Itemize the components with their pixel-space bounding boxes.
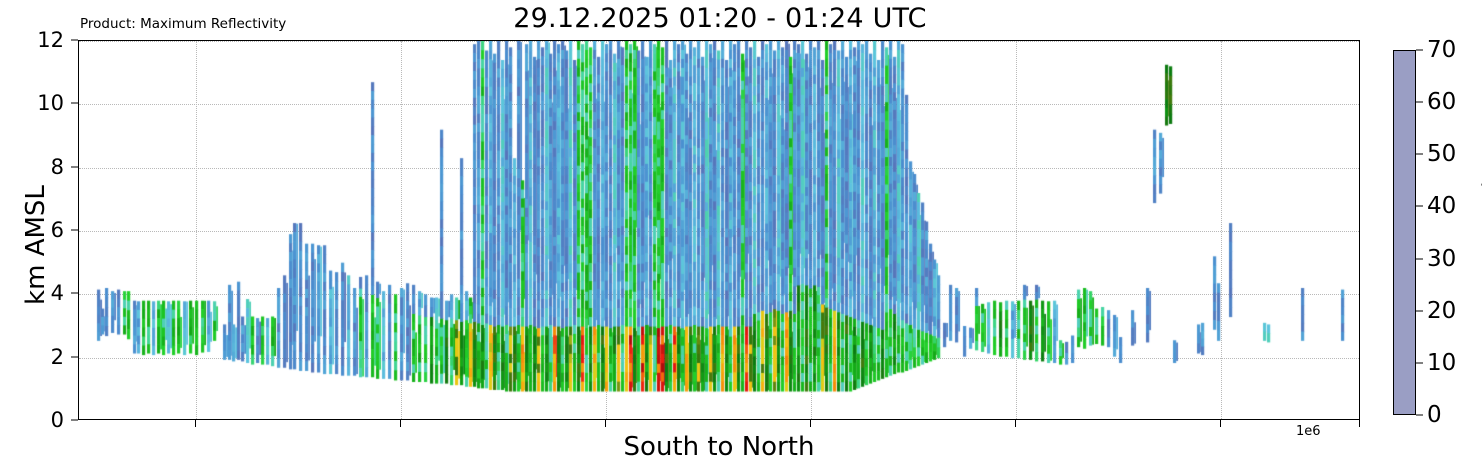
reflectivity-heatmap: [79, 41, 1360, 420]
colorbar-tick-label: 20: [1427, 298, 1456, 324]
x-axis-tick-mark: [195, 420, 196, 427]
colorbar-tick-label: 10: [1427, 350, 1456, 376]
radar-cross-section-figure: 29.12.2025 01:20 - 01:24 UTC Product: Ma…: [0, 0, 1482, 470]
y-axis-tick-mark: [71, 420, 78, 421]
y-axis-tick-label: 6: [51, 218, 64, 242]
colorbar-tick-mark: [1416, 154, 1423, 155]
y-axis-tick-mark: [71, 356, 78, 357]
colorbar-gradient: [1393, 50, 1416, 415]
x-axis-tick-mark: [1015, 420, 1016, 427]
y-axis-tick-label: 10: [37, 91, 64, 115]
y-axis-tick-label: 12: [37, 28, 64, 52]
colorbar-tick-label: 40: [1427, 193, 1456, 219]
y-axis-tick-label: 0: [51, 408, 64, 432]
colorbar-tick-label: 70: [1427, 37, 1456, 63]
x-axis-offset-text: 1e6: [1296, 424, 1321, 439]
y-axis-tick-mark: [71, 166, 78, 167]
colorbar-tick-label: 0: [1427, 402, 1442, 428]
colorbar-tick-label: 50: [1427, 141, 1456, 167]
x-axis-tick-mark: [810, 420, 811, 427]
colorbar-tick-mark: [1416, 206, 1423, 207]
y-axis-tick-mark: [71, 230, 78, 231]
plot-area: [78, 40, 1360, 420]
colorbar: 010203040506070: [1393, 50, 1416, 415]
x-axis-tick-mark: [1220, 420, 1221, 427]
colorbar-tick-mark: [1416, 102, 1423, 103]
y-axis-tick-label: 4: [51, 281, 64, 305]
y-axis-tick-label: 8: [51, 155, 64, 179]
colorbar-tick-mark: [1416, 310, 1423, 311]
product-label: Product: Maximum Reflectivity: [80, 16, 286, 32]
colorbar-tick-label: 30: [1427, 246, 1456, 272]
colorbar-tick-mark: [1416, 50, 1423, 51]
x-axis-label: South to North: [78, 432, 1360, 462]
y-axis-tick-mark: [71, 293, 78, 294]
y-axis-tick-label: 2: [51, 345, 64, 369]
x-axis-tick-mark: [400, 420, 401, 427]
colorbar-tick-mark: [1416, 415, 1423, 416]
x-axis-tick-mark: [605, 420, 606, 427]
colorbar-tick-label: 60: [1427, 89, 1456, 115]
y-axis-label: km AMSL: [21, 125, 51, 365]
y-axis-tick-mark: [71, 103, 78, 104]
x-axis-tick-mark: [1359, 420, 1360, 427]
y-axis-tick-mark: [71, 40, 78, 41]
colorbar-tick-mark: [1416, 258, 1423, 259]
colorbar-tick-mark: [1416, 362, 1423, 363]
